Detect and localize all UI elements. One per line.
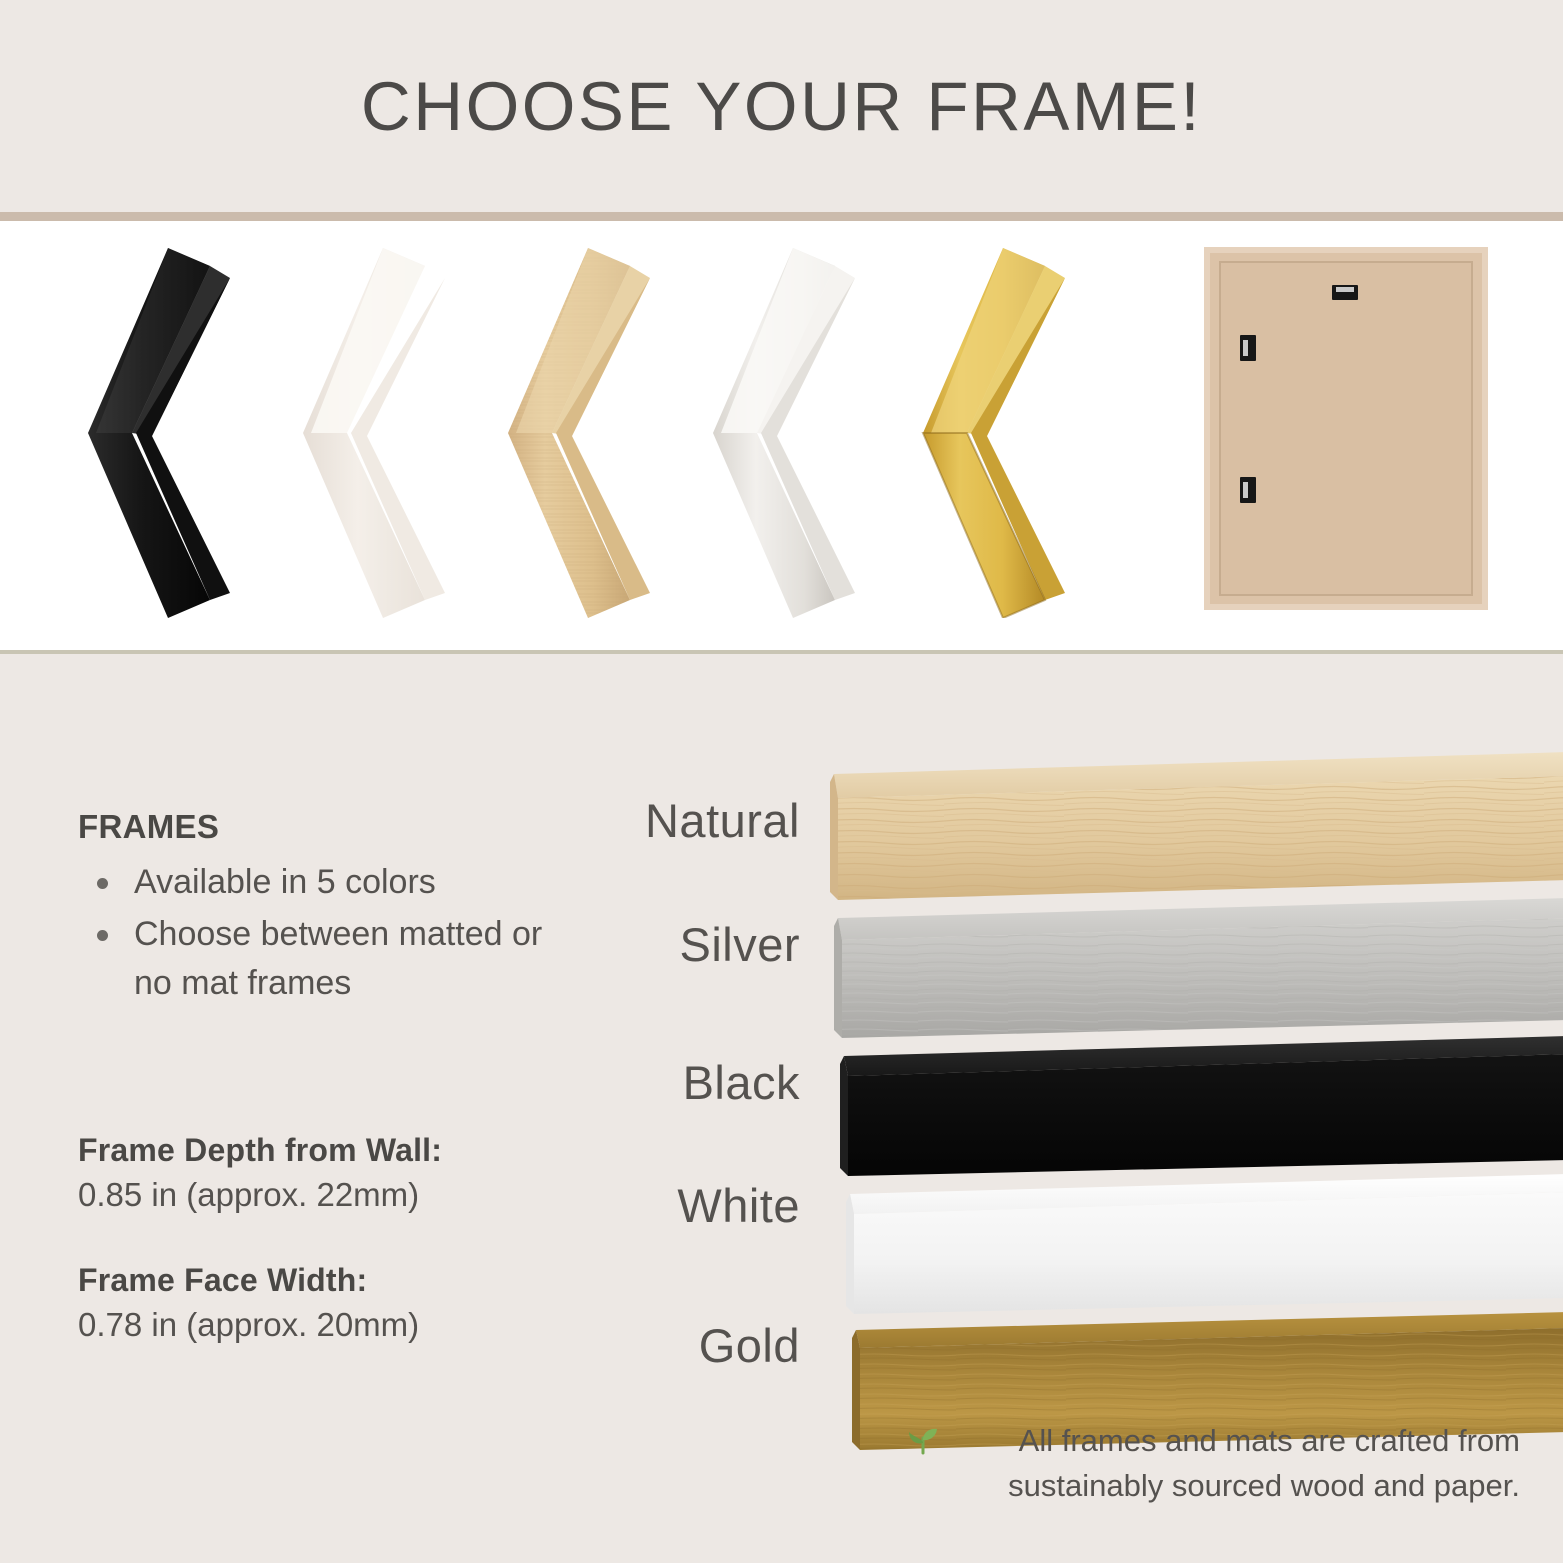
color-label-gold: Gold: [530, 1318, 800, 1373]
sustainability-note: All frames and mats are crafted from sus…: [900, 1418, 1520, 1508]
natural-frame-corner[interactable]: [500, 248, 715, 618]
sprout-icon: [906, 1422, 940, 1456]
list-item: Available in 5 colors: [78, 858, 578, 907]
frames-feature-list: Available in 5 colors Choose between mat…: [78, 858, 578, 1011]
header-banner: CHOOSE YOUR FRAME!: [0, 0, 1563, 212]
silver-frame-corner[interactable]: [705, 248, 920, 618]
color-label-silver: Silver: [530, 917, 800, 972]
list-item: Choose between matted or no mat frames: [78, 910, 578, 1008]
frame-options-infographic: CHOOSE YOUR FRAME!: [0, 0, 1563, 1563]
gold-frame-corner[interactable]: [915, 248, 1130, 618]
moulding-strip-silver[interactable]: [828, 898, 1563, 1038]
spec-label: Frame Face Width:: [78, 1258, 638, 1302]
black-frame-corner[interactable]: [80, 248, 295, 618]
frames-heading: FRAMES: [78, 808, 219, 846]
spec-label: Frame Depth from Wall:: [78, 1128, 638, 1172]
frame-back-view[interactable]: [1200, 245, 1492, 612]
moulding-strip-white[interactable]: [840, 1174, 1563, 1314]
list-item-label: Available in 5 colors: [134, 863, 436, 901]
color-label-black: Black: [530, 1055, 800, 1110]
sustainability-line-2: sustainably sourced wood and paper.: [1008, 1468, 1520, 1503]
sustainability-text: All frames and mats are crafted from sus…: [900, 1418, 1520, 1508]
white-frame-corner[interactable]: [295, 248, 510, 618]
color-label-natural: Natural: [530, 793, 800, 848]
page-title: CHOOSE YOUR FRAME!: [361, 67, 1202, 146]
bullet-dot-icon: [97, 878, 108, 889]
sustainability-line-1: All frames and mats are crafted from: [1019, 1423, 1520, 1458]
list-item-label: Choose between matted or no mat frames: [134, 915, 542, 1002]
bullet-dot-icon: [97, 930, 108, 941]
header-divider: [0, 212, 1563, 221]
color-label-white: White: [530, 1178, 800, 1233]
moulding-strip-natural[interactable]: [824, 752, 1563, 900]
moulding-strip-black[interactable]: [834, 1036, 1563, 1176]
